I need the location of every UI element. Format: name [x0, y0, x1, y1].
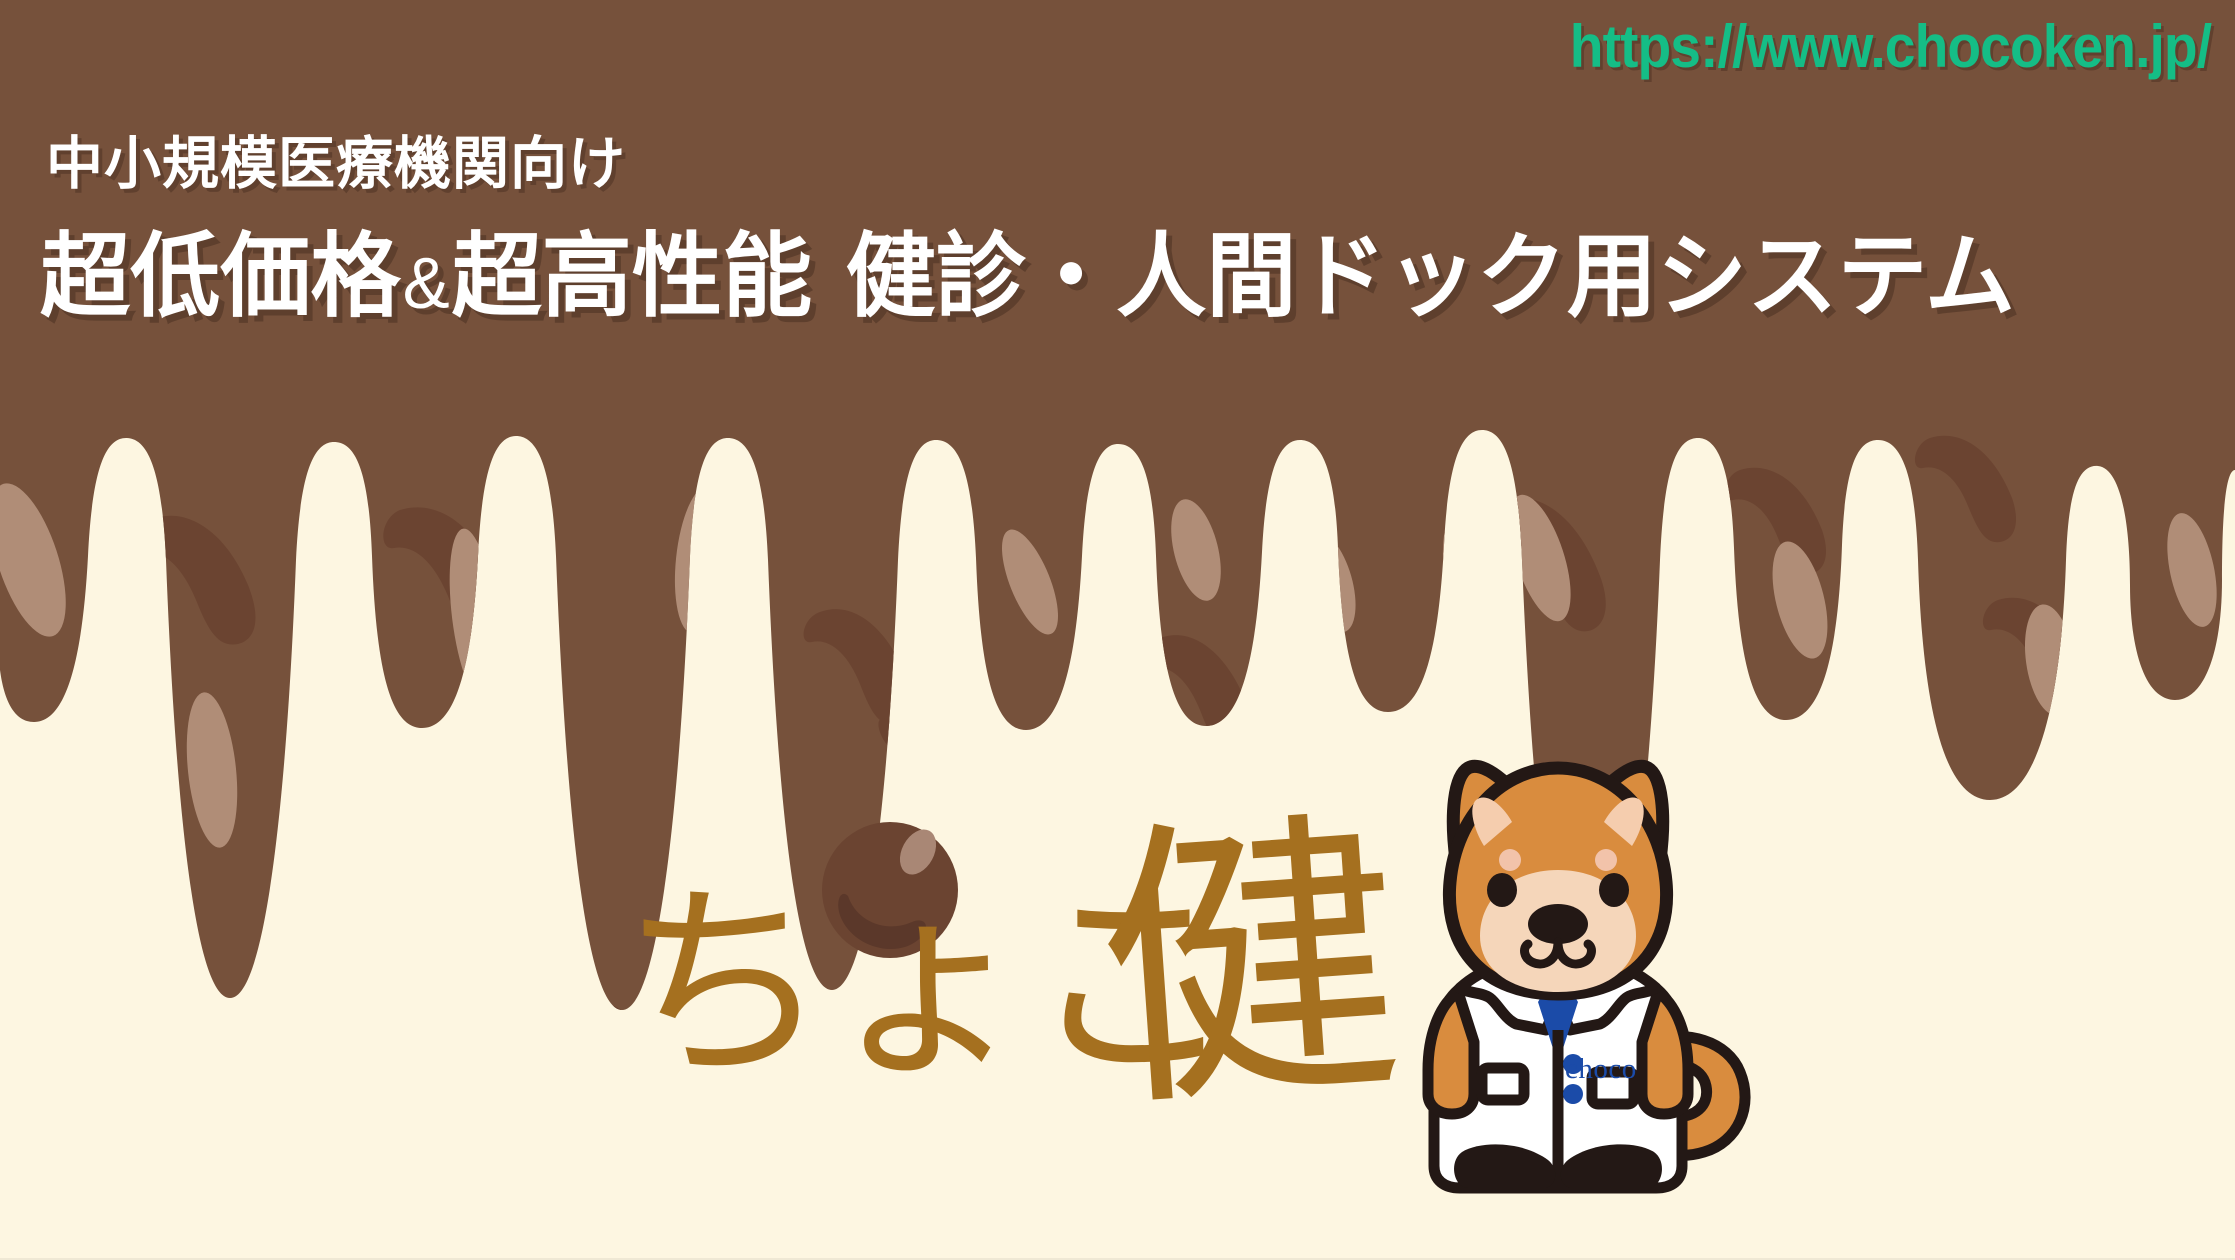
headline-part-1: 超低価格 — [40, 226, 401, 328]
brand-logo: ちょこ 健 — [620, 820, 1440, 1180]
dog-blush-left — [1499, 849, 1521, 871]
page-title: 超低価格&超高性能健診・人間ドック用システム — [40, 202, 2015, 335]
dog-head — [1449, 766, 1666, 994]
dog-eye-right — [1599, 873, 1629, 907]
shiba-inu-doctor-mascot — [1398, 742, 1758, 1242]
coat-button-bottom — [1563, 1084, 1583, 1104]
coat-brand-label: choco — [1565, 1053, 1637, 1086]
coat-pocket-left — [1482, 1068, 1524, 1100]
chocoken-banner: https://www.chocoken.jp/ 中小規模医療機関向け 超低価格… — [0, 0, 2235, 1260]
eyebrow-text: 中小規模医療機関向け — [46, 118, 626, 200]
website-url[interactable]: https://www.chocoken.jp/ — [1570, 12, 2211, 81]
dog-eye-left — [1487, 873, 1517, 907]
headline-ampersand: & — [401, 244, 452, 324]
headline-part-2: 超高性能 — [452, 226, 813, 328]
logo-kanji-text: 健 — [1090, 805, 1410, 1125]
headline-part-3: 健診・人間ドック用システム — [846, 226, 2015, 328]
dog-blush-right — [1595, 849, 1617, 871]
